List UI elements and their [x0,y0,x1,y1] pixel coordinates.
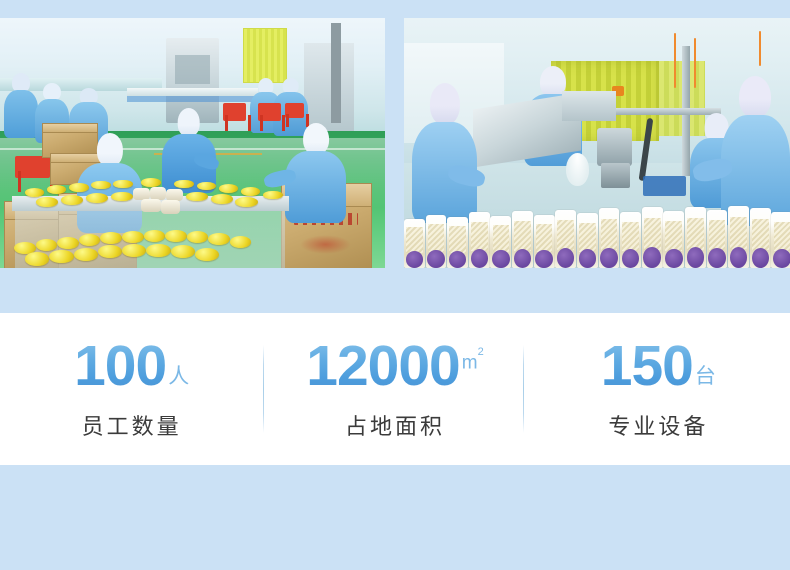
conveyor-deck [127,88,258,96]
air-hose-coil-2 [694,38,696,88]
factory-photo-left[interactable] [0,18,385,268]
stats-row: 100 人 员工数量 12000 m2 占地面积 150 台 专业设备 [0,313,790,465]
stat-value: 12000 m2 [306,338,483,395]
yellow-wall-panel [243,28,287,83]
air-hose-coil-3 [759,31,761,66]
capping-motor [597,128,632,166]
jar-field-lower [12,208,282,268]
stat-unit: m2 [462,353,484,372]
stat-value: 150 台 [601,338,716,395]
stat-label: 员工数量 [82,409,182,441]
worker-head [429,83,459,125]
stat-unit-exponent: 2 [478,346,484,358]
stat-label: 占地面积 [345,409,445,441]
conveyor-belt [127,96,258,102]
white-funnel [566,153,589,186]
stat-equipment-count: 150 台 专业设备 [527,338,790,441]
motor-housing [601,163,630,188]
stat-employee-count: 100 人 员工数量 [0,338,263,441]
machine-arm [331,23,341,123]
stat-label: 专业设备 [608,409,708,441]
stat-divider-2 [523,345,524,433]
stat-number: 100 [74,338,166,395]
worker-head [97,133,123,167]
factory-photo-strip [0,18,790,268]
stat-unit: 人 [168,366,189,387]
photo-right-scene [404,18,790,268]
worker-head [177,108,200,137]
stat-value: 100 人 [74,338,189,395]
carton-print-logo [300,235,351,254]
worker-body [4,90,39,138]
stat-floor-area: 12000 m2 占地面积 [263,338,526,441]
red-stool-2 [223,103,246,121]
stat-number: 12000 [306,338,460,395]
red-stool-3 [258,103,281,121]
worker-head [739,76,771,118]
stat-divider-1 [263,345,264,433]
stainless-chute [562,91,616,121]
stat-unit-base: m [462,353,478,374]
stat-unit: 台 [695,366,716,387]
page-root: 100 人 员工数量 12000 m2 占地面积 150 台 专业设备 [0,0,790,570]
bottle-row [404,203,790,268]
stats-panel: 100 人 员工数量 12000 m2 占地面积 150 台 专业设备 [0,313,790,465]
stat-number: 150 [601,338,693,395]
photo-left-scene [0,18,385,268]
red-stool-4 [285,103,304,118]
worker-front-left [412,83,478,223]
air-hose-coil-1 [674,33,676,88]
worker-rear-1 [4,73,39,138]
blue-crate [643,176,685,196]
factory-photo-right[interactable] [404,18,790,268]
